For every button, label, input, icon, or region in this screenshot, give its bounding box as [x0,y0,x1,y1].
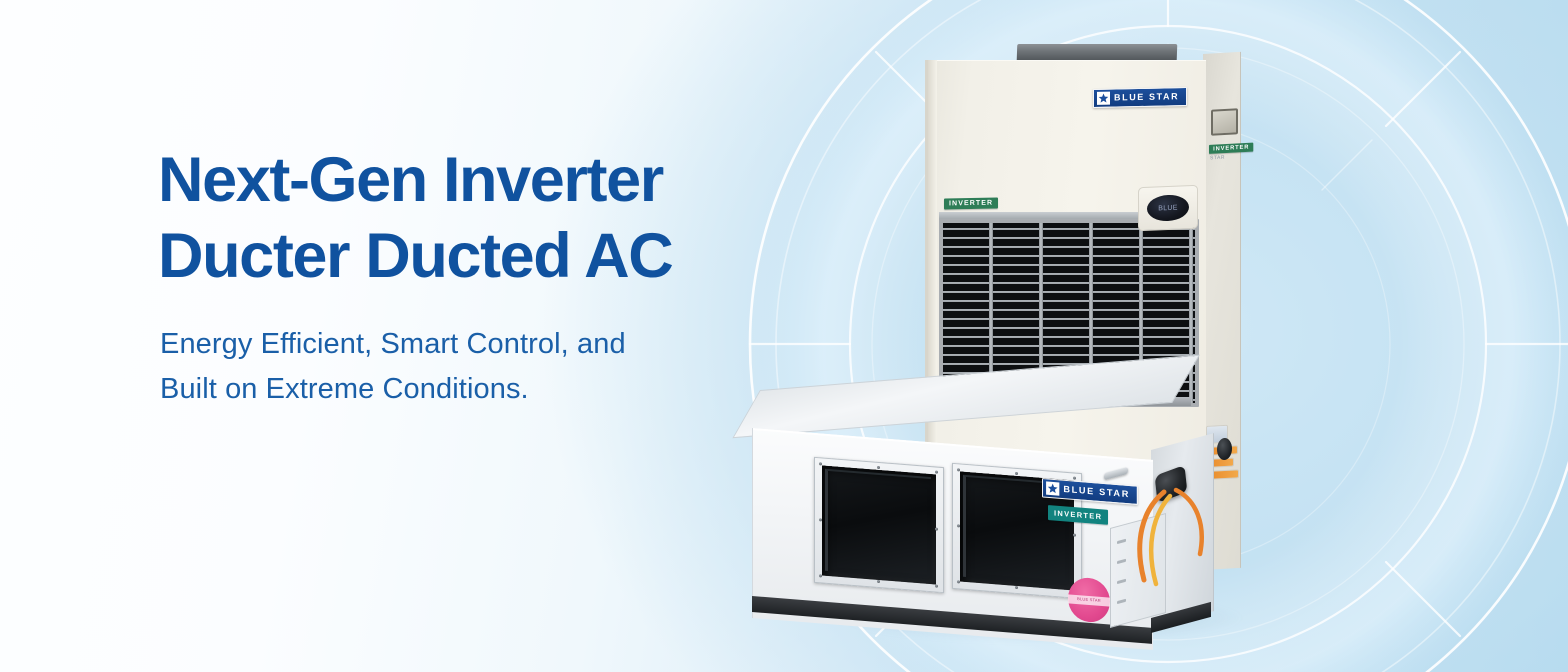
star-icon [1046,481,1059,495]
duct-screws-left [815,458,943,592]
brand-badge-lower-label: BLUE STAR [1063,485,1130,499]
side-sub-label: STAR [1210,155,1225,162]
sticker-band: BLUE STAR [1068,594,1110,606]
display-glyph: BLUE [1158,204,1178,212]
sticker-text: BLUE STAR [1077,597,1101,603]
top-vent-cap [1017,44,1178,60]
inverter-badge-upper: INVERTER [944,192,998,211]
star-icon [1097,92,1110,105]
hero-copy: Next-Gen Inverter Ducter Ducted AC Energ… [158,142,818,412]
inverter-badge-side-label: INVERTER [1209,143,1253,154]
inverter-badge-side: INVERTER [1209,138,1253,155]
product-image: BLUE STAR INVERTER BLUE INVERTER STAR [742,18,1362,658]
brand-badge-upper: BLUE STAR [1093,87,1187,108]
inverter-badge-label: INVERTER [944,198,998,210]
duct-opening-left [814,457,944,593]
page-subtitle: Energy Efficient, Smart Control, and Bui… [160,322,818,412]
page-title: Next-Gen Inverter Ducter Ducted AC [158,142,818,294]
control-display[interactable]: BLUE [1147,194,1189,222]
control-panel-plate[interactable]: BLUE [1138,185,1198,232]
electrical-control-box [1110,513,1166,628]
hero-banner: Next-Gen Inverter Ducter Ducted AC Energ… [0,0,1568,672]
brand-badge-label: BLUE STAR [1114,92,1179,102]
lower-ducted-unit: BLUE STAR INVERTER BLUE STAR [752,390,1232,652]
side-service-screen [1211,108,1238,135]
